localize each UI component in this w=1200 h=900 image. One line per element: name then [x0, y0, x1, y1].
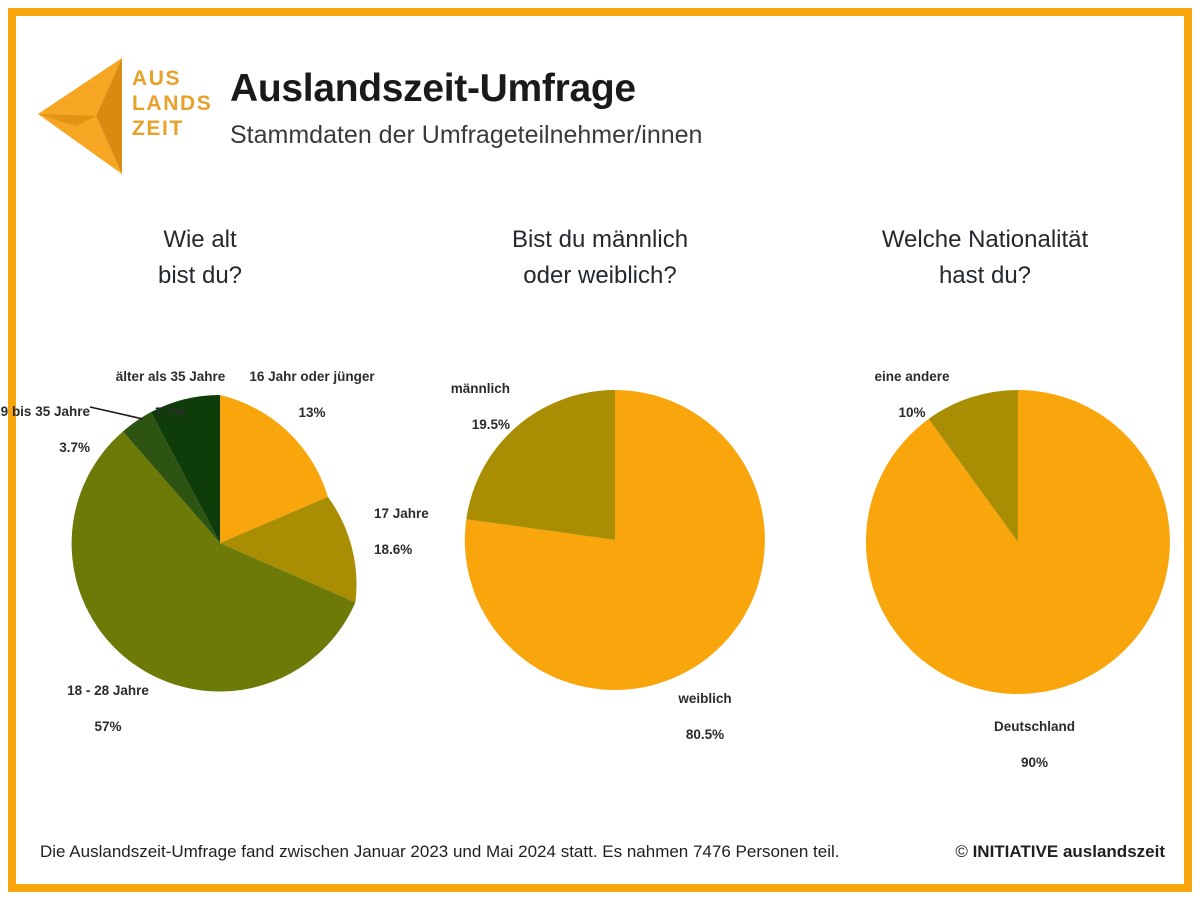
- pie-label-maennlich-name: männlich: [390, 380, 510, 398]
- pie-label-29-35-value: 3.7%: [0, 439, 90, 457]
- pie-label-weiblich-value: 80.5%: [650, 726, 760, 744]
- logo-word-lands: LANDS: [132, 91, 232, 116]
- pie-label-29-35: 29 bis 35 Jahre 3.7%: [0, 385, 90, 475]
- footer-credit-light: auslandszeit: [1063, 842, 1165, 861]
- page-subtitle: Stammdaten der Umfrageteilnehmer/innen: [230, 120, 702, 150]
- pie-label-18-28: 18 - 28 Jahre 57%: [38, 664, 178, 754]
- chart-nationality: Welche Nationalität hast du? eine andere…: [790, 222, 1190, 812]
- charts-row: Wie alt bist du?: [0, 222, 1200, 812]
- pie-label-older-35-name: älter als 35 Jahre: [108, 368, 233, 386]
- header: AUS LANDS ZEIT Auslandszeit-Umfrage Stam…: [36, 46, 1156, 186]
- auslandszeit-logo: AUS LANDS ZEIT: [36, 52, 226, 180]
- pie-label-deutschland: Deutschland 90%: [962, 700, 1107, 790]
- pie-label-18-28-name: 18 - 28 Jahre: [38, 682, 178, 700]
- pie-label-weiblich-name: weiblich: [650, 690, 760, 708]
- pie-label-deutschland-value: 90%: [962, 754, 1107, 772]
- page-title: Auslandszeit-Umfrage: [230, 66, 702, 112]
- pie-label-29-35-name: 29 bis 35 Jahre: [0, 403, 90, 421]
- title-block: Auslandszeit-Umfrage Stammdaten der Umfr…: [230, 66, 702, 150]
- pie-label-16-or-younger-value: 13%: [232, 404, 392, 422]
- logo-word-aus: AUS: [132, 66, 232, 91]
- chart-nationality-plot: eine andere 10% Deutschland 90%: [790, 222, 1190, 812]
- chart-age-plot: 16 Jahr oder jünger 13% 17 Jahre 18.6% 1…: [20, 222, 420, 812]
- chart-age: Wie alt bist du?: [20, 222, 420, 812]
- pie-label-deutschland-name: Deutschland: [962, 718, 1107, 736]
- logo-arrow-icon: [36, 52, 140, 180]
- pie-label-maennlich-value: 19.5%: [390, 416, 510, 434]
- pie-label-eine-andere: eine andere 10%: [842, 350, 982, 440]
- footer-credit-strong: INITIATIVE: [973, 842, 1059, 861]
- logo-word-zeit: ZEIT: [132, 116, 232, 141]
- footer-note: Die Auslandszeit-Umfrage fand zwischen J…: [40, 840, 839, 864]
- pie-label-eine-andere-value: 10%: [842, 404, 982, 422]
- pie-label-16-or-younger: 16 Jahr oder jünger 13%: [232, 350, 392, 440]
- pie-label-16-or-younger-name: 16 Jahr oder jünger: [232, 368, 392, 386]
- chart-gender-plot: männlich 19.5% weiblich 80.5%: [400, 222, 800, 812]
- pie-label-older-35: älter als 35 Jahre 7.7%: [108, 350, 233, 440]
- pie-label-maennlich: männlich 19.5%: [390, 362, 510, 452]
- footer: Die Auslandszeit-Umfrage fand zwischen J…: [40, 840, 1165, 874]
- pie-label-18-28-value: 57%: [38, 718, 178, 736]
- infographic-page: AUS LANDS ZEIT Auslandszeit-Umfrage Stam…: [0, 0, 1200, 900]
- logo-wordmark: AUS LANDS ZEIT: [132, 66, 232, 141]
- copyright-icon: ©: [955, 842, 968, 861]
- pie-label-weiblich: weiblich 80.5%: [650, 672, 760, 762]
- chart-gender: Bist du männlich oder weiblich? männlich…: [400, 222, 800, 812]
- pie-label-eine-andere-name: eine andere: [842, 368, 982, 386]
- footer-credit: © INITIATIVE auslandszeit: [955, 840, 1165, 864]
- pie-label-older-35-value: 7.7%: [108, 404, 233, 422]
